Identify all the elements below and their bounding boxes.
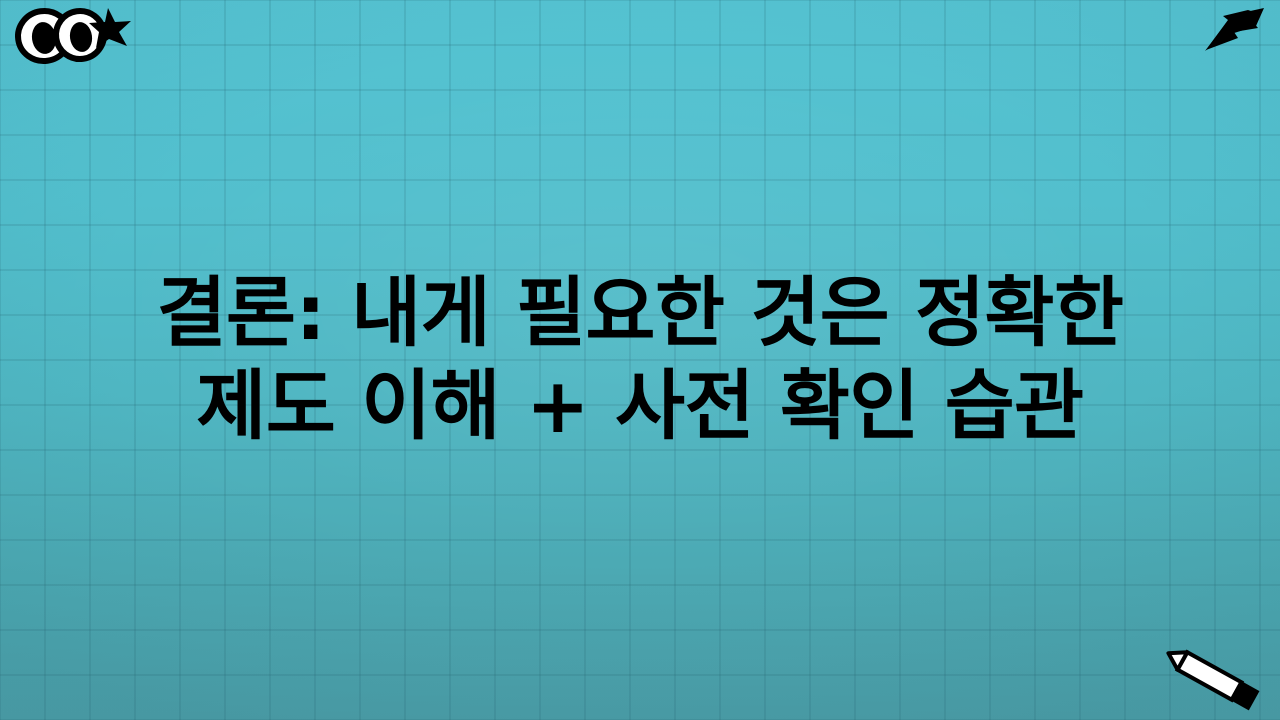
slide-canvas: 결론: 내게 필요한 것은 정확한 제도 이해 + 사전 확인 습관 <box>0 0 1280 720</box>
page-title: 결론: 내게 필요한 것은 정확한 제도 이해 + 사전 확인 습관 <box>157 267 1124 452</box>
title-line-2: 제도 이해 + 사전 확인 습관 <box>196 361 1083 450</box>
slide-title-area: 결론: 내게 필요한 것은 정확한 제도 이해 + 사전 확인 습관 <box>0 0 1280 720</box>
title-line-1: 결론: 내게 필요한 것은 정확한 <box>157 268 1124 357</box>
